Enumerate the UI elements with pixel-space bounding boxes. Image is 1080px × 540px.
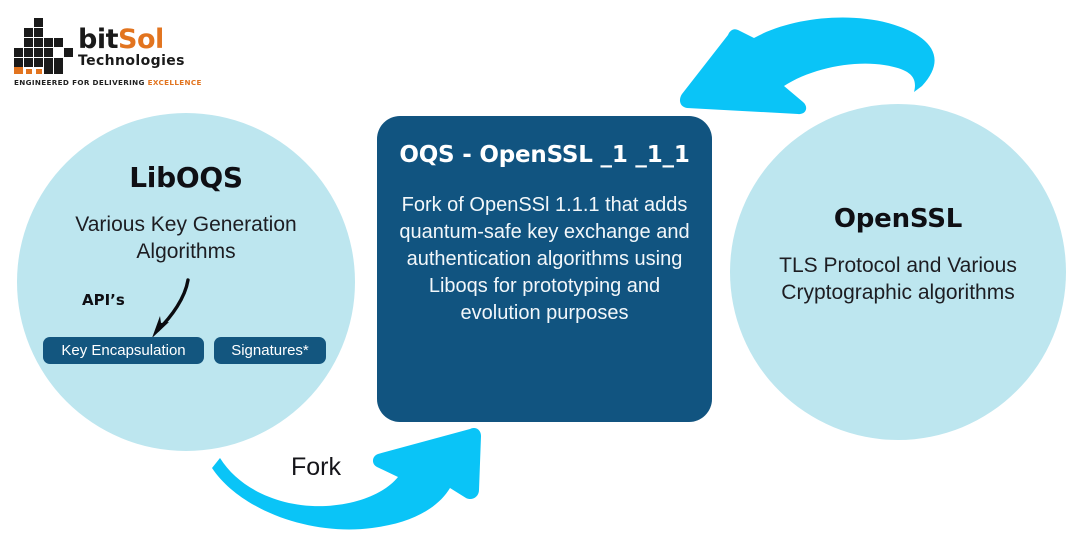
arrow-openssl-to-oqs-icon — [660, 8, 970, 128]
openssl-subtitle: TLS Protocol and Various Cryptographic a… — [730, 252, 1066, 307]
logo-tagline: ENGINEERED FOR DELIVERING EXCELLENCE — [14, 78, 190, 87]
logo-tagline-highlight: EXCELLENCE — [148, 78, 202, 87]
arrow-liboqs-to-oqs-fork-icon — [200, 428, 500, 540]
logo-name-bit: bit — [78, 24, 118, 55]
api-arrow-icon — [130, 276, 196, 344]
liboqs-subtitle: Various Key Generation Algorithms — [17, 211, 355, 266]
pill-signatures-label: Signatures* — [231, 343, 309, 358]
logo-tagline-main: ENGINEERED FOR DELIVERING — [14, 78, 148, 87]
openssl-title: OpenSSL — [730, 204, 1066, 234]
fork-label: Fork — [291, 453, 341, 482]
liboqs-title: LibOQS — [17, 161, 355, 194]
logo-name-sol: Sol — [118, 24, 164, 55]
pill-key-encapsulation-label: Key Encapsulation — [61, 343, 185, 358]
openssl-circle: OpenSSL TLS Protocol and Various Cryptog… — [730, 104, 1066, 440]
oqs-openssl-box: OQS - OpenSSL _1 _1_1 Fork of OpenSSl 1.… — [377, 116, 712, 422]
diagram-canvas: bitSol Technologies ENGINEERED FOR DELIV… — [0, 0, 1080, 540]
bitsol-logo: bitSol Technologies ENGINEERED FOR DELIV… — [12, 18, 187, 96]
logo-subtitle: Technologies — [78, 53, 185, 69]
pill-key-encapsulation[interactable]: Key Encapsulation — [43, 337, 204, 364]
pill-signatures[interactable]: Signatures* — [214, 337, 326, 364]
logo-pixel-mark-icon — [12, 18, 74, 74]
oqs-openssl-body: Fork of OpenSSl 1.1.1 that adds quantum-… — [397, 192, 692, 328]
api-label: API’s — [82, 291, 125, 309]
oqs-openssl-title: OQS - OpenSSL _1 _1_1 — [397, 142, 692, 170]
